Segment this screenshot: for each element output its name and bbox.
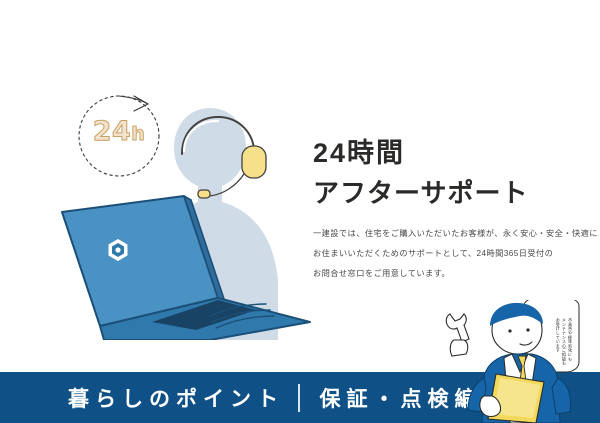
headline-line-1: 24時間 [313, 133, 563, 173]
staff-character-illustration [440, 300, 600, 423]
banner-divider [298, 384, 300, 412]
poster-canvas: 24h [0, 0, 600, 423]
body-line-2: お住まいいただくためのサポートとして、24時間365日受付の [313, 249, 563, 258]
raised-hand [450, 340, 467, 356]
copy-block: 24時間 アフターサポート 一建設では、住宅をご購入いただいたお客様が、永く安心… [313, 133, 563, 289]
staff-head [490, 303, 543, 354]
holding-hand [480, 396, 501, 417]
body-copy: 一建設では、住宅をご購入いただいたお客様が、永く安心・安全・快適に お住まいいた… [313, 229, 563, 278]
wrench-icon [446, 314, 469, 342]
banner-left-text: 暮らしのポイント [68, 383, 284, 413]
headline-line-2: アフターサポート [313, 173, 563, 213]
body-line-1: 一建設では、住宅をご購入いただいたお客様が、永く安心・安全・快適に [313, 229, 563, 238]
body-line-3: お問合せ窓口をご用意しています。 [313, 269, 563, 278]
operator-illustration [60, 90, 320, 340]
